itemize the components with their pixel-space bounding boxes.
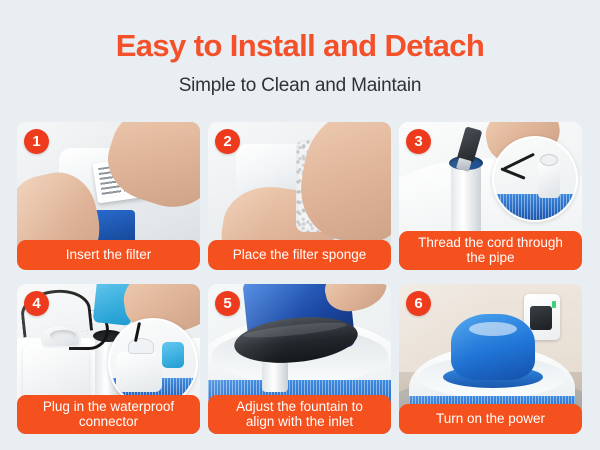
step-caption-1: Insert the filter: [17, 240, 200, 270]
step-caption-text-1: Insert the filter: [21, 247, 196, 262]
step-panel-5[interactable]: 5 Adjust the fountain to align with the …: [208, 284, 391, 434]
step-caption-4: Plug in the waterproof connector: [17, 395, 200, 434]
step-badge-2: 2: [215, 129, 240, 154]
closeup-inset-3: [492, 136, 578, 222]
step-caption-3: Thread the cord through the pipe: [399, 231, 582, 270]
header: Easy to Install and Detach Simple to Cle…: [0, 0, 600, 97]
step-caption-text-2: Place the filter sponge: [212, 247, 387, 262]
step-caption-text-6: Turn on the power: [403, 411, 578, 426]
step-caption-2: Place the filter sponge: [208, 240, 391, 270]
page-title: Easy to Install and Detach: [0, 30, 600, 63]
step-panel-1[interactable]: 1 Insert the filter: [17, 122, 200, 270]
step-panel-2[interactable]: 2 Place the filter sponge: [208, 122, 391, 270]
step-caption-text-4: Plug in the waterproof connector: [21, 399, 196, 429]
step-panel-3[interactable]: 3 Thread the cord through the pipe: [399, 122, 582, 270]
step-badge-5: 5: [215, 291, 240, 316]
step-panel-4[interactable]: 4 Plug in the waterproof connector: [17, 284, 200, 434]
step-badge-1: 1: [24, 129, 49, 154]
step-badge-4: 4: [24, 291, 49, 316]
step-panel-6[interactable]: 6 Turn on the power: [399, 284, 582, 434]
step-badge-3: 3: [406, 129, 431, 154]
step-badge-6: 6: [406, 291, 431, 316]
page-subtitle: Simple to Clean and Maintain: [0, 75, 600, 97]
step-caption-text-3: Thread the cord through the pipe: [403, 235, 578, 265]
step-caption-5: Adjust the fountain to align with the in…: [208, 395, 391, 434]
step-grid: 1 Insert the filter 2 Place the filter s…: [17, 122, 583, 434]
step-caption-6: Turn on the power: [399, 404, 582, 434]
step-caption-text-5: Adjust the fountain to align with the in…: [212, 399, 387, 429]
